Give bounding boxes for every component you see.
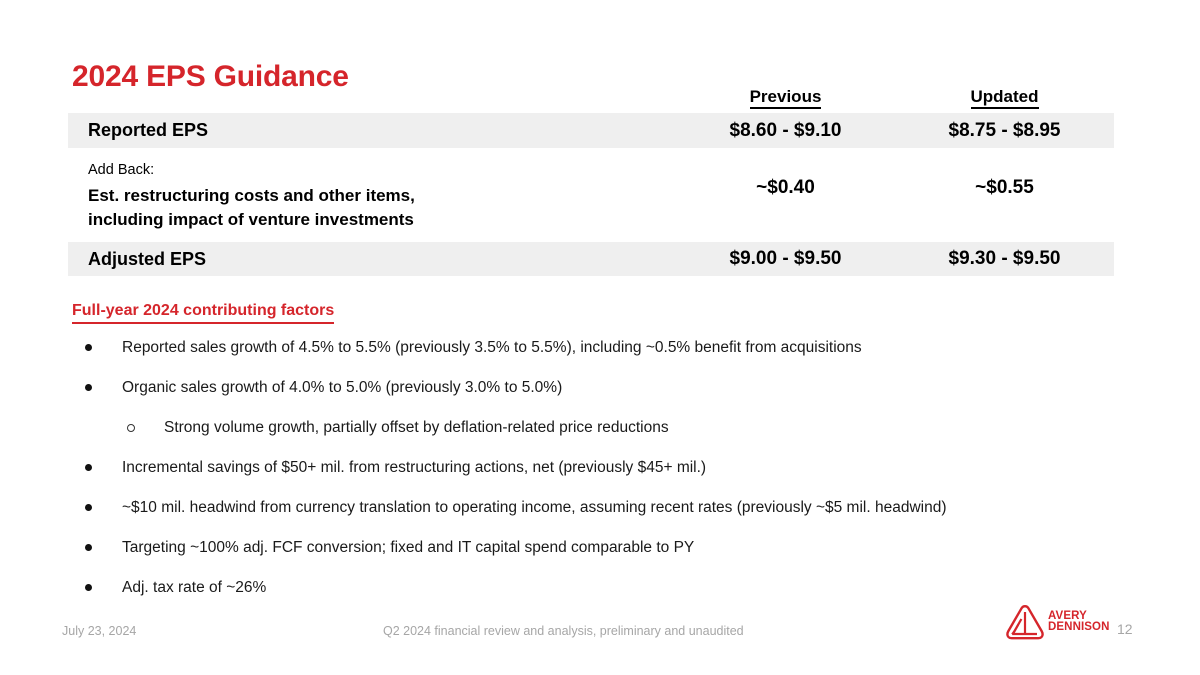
list-item: Adj. tax rate of ~26% [72,577,1162,598]
list-item-text: ~$10 mil. headwind from currency transla… [122,499,947,516]
footer-disclaimer: Q2 2024 financial review and analysis, p… [383,624,744,638]
contributing-factors-list: Reported sales growth of 4.5% to 5.5% (p… [72,337,1162,617]
bullet-dot-icon [85,384,92,391]
add-back-previous: ~$0.40 [676,148,895,242]
avery-dennison-logo: AVERY DENNISON [1004,603,1110,641]
add-back-updated: ~$0.55 [895,148,1114,242]
add-back-label-line1: Est. restructuring costs and other items… [88,184,676,208]
list-item-text: Incremental savings of $50+ mil. from re… [122,459,706,476]
table-row-add-back: Add Back: Est. restructuring costs and o… [68,148,1114,242]
add-back-label-line2: including impact of venture investments [88,208,676,232]
bullet-dot-icon [85,504,92,511]
add-back-sublabel: Add Back: [88,160,676,180]
list-item-text: Organic sales growth of 4.0% to 5.0% (pr… [122,379,562,396]
list-item-text: Reported sales growth of 4.5% to 5.5% (p… [122,339,862,356]
list-item: Reported sales growth of 4.5% to 5.5% (p… [72,337,1162,358]
bullet-dot-icon [85,344,92,351]
list-item: Incremental savings of $50+ mil. from re… [72,457,1162,478]
table-header-row: Previous Updated [68,80,1114,113]
reported-eps-updated: $8.75 - $8.95 [895,120,1114,142]
bullet-dot-icon [85,464,92,471]
table-row-adjusted-eps: Adjusted EPS $9.00 - $9.50 $9.30 - $9.50 [68,242,1114,276]
list-item: Strong volume growth, partially offset b… [72,417,1162,438]
contributing-factors-heading: Full-year 2024 contributing factors [72,301,334,324]
table-row-reported-eps: Reported EPS $8.60 - $9.10 $8.75 - $8.95 [68,113,1114,148]
page-number: 12 [1117,621,1133,637]
bullet-circle-icon [127,424,135,432]
logo-line-dennison: DENNISON [1048,622,1110,634]
bullet-dot-icon [85,544,92,551]
avery-dennison-triangle-icon [1004,603,1046,641]
reported-eps-previous: $8.60 - $9.10 [676,120,895,142]
list-item: Organic sales growth of 4.0% to 5.0% (pr… [72,377,1162,398]
column-header-previous: Previous [676,87,895,107]
list-item-text: Adj. tax rate of ~26% [122,579,266,596]
adjusted-eps-updated: $9.30 - $9.50 [895,248,1114,270]
adjusted-eps-previous: $9.00 - $9.50 [676,248,895,270]
column-header-updated: Updated [895,87,1114,107]
eps-guidance-table: Previous Updated Reported EPS $8.60 - $9… [68,80,1114,276]
row-label-add-back: Add Back: Est. restructuring costs and o… [68,148,676,242]
list-item-text: Targeting ~100% adj. FCF conversion; fix… [122,539,694,556]
list-item-text: Strong volume growth, partially offset b… [164,419,669,436]
list-item: Targeting ~100% adj. FCF conversion; fix… [72,537,1162,558]
footer-date: July 23, 2024 [62,624,136,638]
bullet-dot-icon [85,584,92,591]
avery-dennison-wordmark: AVERY DENNISON [1048,611,1110,634]
list-item: ~$10 mil. headwind from currency transla… [72,497,1162,518]
row-label-adjusted-eps: Adjusted EPS [68,249,676,270]
row-label-reported-eps: Reported EPS [68,120,676,141]
